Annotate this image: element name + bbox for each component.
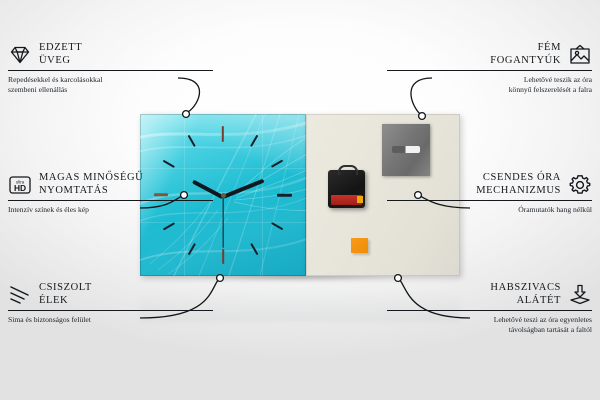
callout-title: CSISZOLT ÉLEK xyxy=(39,282,92,307)
callout-description: Sima és biztonságos felület xyxy=(8,315,213,325)
callout-header: EDZETT ÜVEG xyxy=(8,42,213,67)
polished-edges-icon xyxy=(8,283,32,307)
clock-mechanism xyxy=(328,170,365,208)
callout-title: FÉM FOGANTYÚK xyxy=(490,42,561,67)
hanger-slot xyxy=(392,146,420,153)
panel-seam xyxy=(140,168,306,169)
callout-header: CSISZOLT ÉLEK xyxy=(8,282,213,307)
battery xyxy=(331,195,362,205)
callout-rule xyxy=(8,70,213,71)
callout-title: CSENDES ÓRA MECHANIZMUS xyxy=(476,172,561,197)
callout-title: EDZETT ÜVEG xyxy=(39,42,82,67)
callout-rule xyxy=(8,310,213,311)
second-hand xyxy=(222,196,223,248)
panel-seam xyxy=(262,114,263,276)
callout-csiszolt-elek: CSISZOLT ÉLEK Sima és biztonságos felüle… xyxy=(8,282,213,325)
callout-rule xyxy=(387,70,592,71)
callout-description: Óramutatók hang nélkül xyxy=(387,205,592,215)
callout-fem-fogantyuk: FÉM FOGANTYÚK Lehetővé teszik az óra kön… xyxy=(387,42,592,95)
callout-header: CSENDES ÓRA MECHANIZMUS xyxy=(387,172,592,197)
callout-header: HABSZIVACS ALÁTÉT xyxy=(387,282,592,307)
callout-rule xyxy=(387,200,592,201)
callout-habszivacs-alatet: HABSZIVACS ALÁTÉT Lehetővé teszi az óra … xyxy=(387,282,592,335)
callout-description: Lehetővé teszik az óra könnyű felszerelé… xyxy=(387,75,592,94)
diamond-icon xyxy=(8,43,32,67)
callout-magas-minosegu-nyomtatas: ultra HD MAGAS MINŐSÉGŰ NYOMTATÁS Intenz… xyxy=(8,172,213,215)
callout-description: Intenzív színek és éles kép xyxy=(8,205,213,215)
ultra-hd-large: HD xyxy=(14,183,26,193)
picture-hanger-icon xyxy=(568,43,592,67)
foam-spacer-icon xyxy=(568,283,592,307)
callout-title: MAGAS MINŐSÉGŰ NYOMTATÁS xyxy=(39,172,143,197)
callout-description: Lehetővé teszi az óra egyenletes távolsá… xyxy=(387,315,592,334)
battery-plus-terminal xyxy=(357,196,363,203)
infographic-canvas: EDZETT ÜVEG Repedésekkel és karcolásokka… xyxy=(0,0,600,400)
mechanism-hanger-loop xyxy=(338,165,358,175)
clock-hub xyxy=(221,193,226,198)
callout-header: FÉM FOGANTYÚK xyxy=(387,42,592,67)
metal-hanger-plate xyxy=(382,124,430,176)
callout-edzett-uveg: EDZETT ÜVEG Repedésekkel és karcolásokka… xyxy=(8,42,213,95)
gear-icon xyxy=(568,173,592,197)
callout-title: HABSZIVACS ALÁTÉT xyxy=(490,282,561,307)
callout-header: ultra HD MAGAS MINŐSÉGŰ NYOMTATÁS xyxy=(8,172,213,197)
clock-tick xyxy=(222,249,224,264)
callout-rule xyxy=(8,200,213,201)
clock-tick xyxy=(277,194,292,197)
ultra-hd-icon: ultra HD xyxy=(8,173,32,197)
foam-pad xyxy=(351,238,368,253)
callout-csendes-ora-mechanizmus: CSENDES ÓRA MECHANIZMUS Óramutatók hang … xyxy=(387,172,592,215)
callout-rule xyxy=(387,310,592,311)
callout-description: Repedésekkel és karcolásokkal szembeni e… xyxy=(8,75,213,94)
